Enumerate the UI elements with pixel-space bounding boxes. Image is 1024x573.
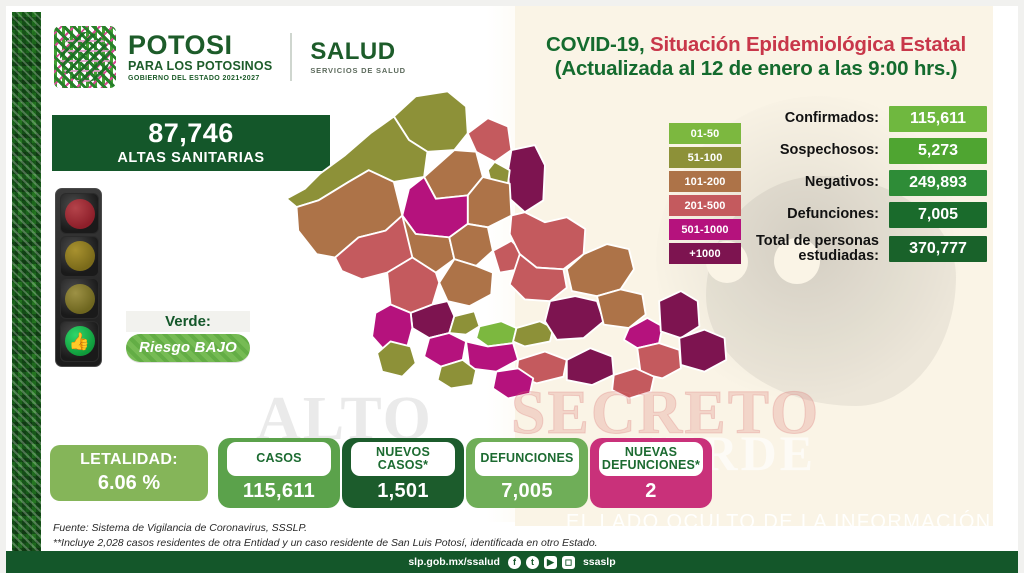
legend-item-51-100: 51-100 xyxy=(669,147,741,168)
map-region-municipio-28[interactable] xyxy=(679,330,726,372)
stat-row: Defunciones:7,005 xyxy=(741,202,1006,228)
altas-sanitarias-label: ALTAS SANITARIAS xyxy=(117,150,264,166)
footer-bar: slp.gob.mx/ssalud f t ▶ ◻ ssaslp xyxy=(6,551,1018,573)
stat-label: Defunciones: xyxy=(741,207,889,222)
bottom-stat-card: DEFUNCIONES7,005 xyxy=(466,438,588,508)
stat-value: 370,777 xyxy=(889,236,987,262)
legend-item-201-500: 201-500 xyxy=(669,195,741,216)
stat-label: Total de personas estudiadas: xyxy=(741,234,889,264)
traffic-light-amber-icon xyxy=(65,241,95,271)
bottom-stat-card: NUEVOS CASOS*1,501 xyxy=(342,438,464,508)
map-region-municipio-05[interactable] xyxy=(508,145,545,212)
legend-item-label: +1000 xyxy=(689,248,720,260)
bottom-stat-caption: NUEVAS DEFUNCIONES* xyxy=(599,442,704,476)
footnotes: Fuente: Sistema de Vigilancia de Coronav… xyxy=(53,521,693,551)
stat-value: 5,273 xyxy=(889,138,987,164)
page-title-prefix: COVID-19, xyxy=(546,33,644,56)
legend-item-501-1000: 501-1000 xyxy=(669,219,741,240)
bottom-stat-value: 1,501 xyxy=(377,480,429,503)
legend-item-label: 51-100 xyxy=(688,152,723,164)
youtube-icon[interactable]: ▶ xyxy=(544,556,557,569)
letalidad-value: 6.06 % xyxy=(98,472,160,495)
stat-row: Total de personas estudiadas:370,777 xyxy=(741,234,1006,264)
infographic-root: POTOSI PARA LOS POTOSINOS GOBIERNO DEL E… xyxy=(0,0,1024,573)
map-region-municipio-35[interactable] xyxy=(612,368,654,398)
traffic-light-amber-cell xyxy=(60,236,99,277)
bottom-stat-caption: CASOS xyxy=(227,442,332,476)
traffic-light: 👍 xyxy=(55,188,102,367)
salud-subtitle: SERVICIOS DE SALUD xyxy=(310,67,406,75)
source-note: Fuente: Sistema de Vigilancia de Coronav… xyxy=(53,521,693,536)
bottom-stat-card: NUEVAS DEFUNCIONES*2 xyxy=(590,438,712,508)
statistics-panel: Confirmados:115,611Sospechosos:5,273Nega… xyxy=(741,106,1006,270)
decorative-weave-border xyxy=(12,12,41,552)
logo-divider xyxy=(290,33,292,81)
traffic-light-yellow-cell xyxy=(60,278,99,319)
altas-sanitarias-number: 87,746 xyxy=(148,120,234,147)
logo-group: POTOSI PARA LOS POTOSINOS GOBIERNO DEL E… xyxy=(54,26,406,88)
potosi-emblem-icon xyxy=(54,26,116,88)
legend-item-label: 201-500 xyxy=(684,200,725,212)
bottom-stat-caption: NUEVOS CASOS* xyxy=(351,442,456,476)
instagram-icon[interactable]: ◻ xyxy=(562,556,575,569)
traffic-light-yellow-icon xyxy=(65,284,95,314)
bottom-stat-value: 7,005 xyxy=(501,480,553,503)
risk-level-badge: Riesgo BAJO xyxy=(126,334,250,362)
stat-label: Confirmados: xyxy=(741,111,889,126)
thumbs-up-icon: 👍 xyxy=(65,326,95,356)
salud-title: SALUD xyxy=(310,39,406,64)
map-region-municipio-24[interactable] xyxy=(545,296,604,340)
traffic-light-red-icon xyxy=(65,199,95,229)
map-legend: 01-5051-100101-200201-500501-1000+1000 xyxy=(669,123,741,267)
bottom-stat-caption: DEFUNCIONES xyxy=(475,442,580,476)
stat-value: 7,005 xyxy=(889,202,987,228)
map-region-municipio-27[interactable] xyxy=(659,291,699,338)
risk-level-group: Verde: Riesgo BAJO xyxy=(126,311,250,362)
footer-website[interactable]: slp.gob.mx/ssalud xyxy=(408,556,500,568)
risk-color-label: Verde: xyxy=(126,311,250,332)
potosi-title: POTOSI xyxy=(128,32,272,59)
bottom-stat-card: CASOS115,611 xyxy=(218,438,340,508)
footnote-note: **Incluye 2,028 casos residentes de otra… xyxy=(53,536,693,551)
legend-item--1000: +1000 xyxy=(669,243,741,264)
legend-item-label: 501-1000 xyxy=(681,224,728,236)
stat-label: Negativos: xyxy=(741,175,889,190)
legend-item-01-50: 01-50 xyxy=(669,123,741,144)
social-icons: f t ▶ ◻ xyxy=(508,556,575,569)
page-subtitle: (Actualizada al 12 de enero a las 9:00 h… xyxy=(506,57,1006,81)
letalidad-segment: LETALIDAD: 6.06 % xyxy=(50,445,208,501)
map-region-municipio-15[interactable] xyxy=(439,259,493,306)
bottom-stats-bar: LETALIDAD: 6.06 % CASOS115,611NUEVOS CAS… xyxy=(50,438,710,508)
stat-label: Sospechosos: xyxy=(741,143,889,158)
canvas: POTOSI PARA LOS POTOSINOS GOBIERNO DEL E… xyxy=(6,6,1018,573)
footer-handle: ssaslp xyxy=(583,556,616,568)
page-title-highlight: Situación Epidemiológica Estatal xyxy=(650,33,966,56)
stat-value: 249,893 xyxy=(889,170,987,196)
stat-row: Negativos:249,893 xyxy=(741,170,1006,196)
legend-item-label: 01-50 xyxy=(691,128,720,140)
bottom-stat-value: 2 xyxy=(645,480,656,503)
map-region-municipio-34[interactable] xyxy=(567,348,614,385)
stat-value: 115,611 xyxy=(889,106,987,132)
traffic-light-green-cell: 👍 xyxy=(60,321,99,362)
state-map-svg xyxy=(268,80,738,435)
potosi-wordmark: POTOSI PARA LOS POTOSINOS GOBIERNO DEL E… xyxy=(128,32,272,82)
page-title: COVID-19, Situación Epidemiológica Estat… xyxy=(506,33,1006,57)
legend-item-101-200: 101-200 xyxy=(669,171,741,192)
header-title-block: COVID-19, Situación Epidemiológica Estat… xyxy=(506,33,1006,81)
twitter-icon[interactable]: t xyxy=(526,556,539,569)
potosi-subtitle: PARA LOS POTOSINOS xyxy=(128,60,272,73)
legend-item-label: 101-200 xyxy=(684,176,725,188)
traffic-light-red-cell xyxy=(60,193,99,234)
stat-row: Confirmados:115,611 xyxy=(741,106,1006,132)
potosi-government-line: GOBIERNO DEL ESTADO 2021•2027 xyxy=(128,75,272,82)
stat-row: Sospechosos:5,273 xyxy=(741,138,1006,164)
facebook-icon[interactable]: f xyxy=(508,556,521,569)
bottom-stat-value: 115,611 xyxy=(243,480,315,503)
letalidad-label: LETALIDAD: xyxy=(80,451,178,469)
salud-wordmark: SALUD SERVICIOS DE SALUD xyxy=(310,39,406,75)
state-map[interactable] xyxy=(268,80,738,435)
